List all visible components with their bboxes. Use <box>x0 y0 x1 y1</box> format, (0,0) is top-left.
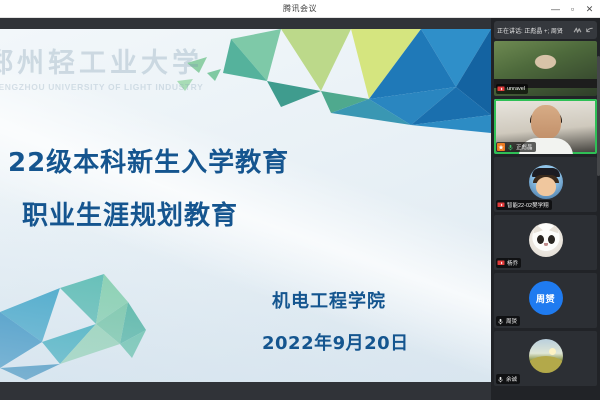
participant-name: 周赟 <box>506 317 517 325</box>
participant-tile[interactable]: 余诚 <box>494 331 597 386</box>
title-bar: 腾讯会议 — ▫ ✕ <box>0 0 600 18</box>
minimize-button[interactable]: — <box>547 0 564 18</box>
mic-muted-icon <box>497 376 504 383</box>
participant-name-tag: 余诚 <box>496 374 520 384</box>
avatar-cat-ear-left <box>531 223 543 233</box>
lowpoly-graphic-top-right <box>171 29 491 149</box>
close-button[interactable]: ✕ <box>581 0 598 18</box>
participant-name-tag: 正彪晶 <box>496 142 536 152</box>
shared-screen-stage[interactable]: 郑州轻工业大学 ZHENGZHOU UNIVERSITY OF LIGHT IN… <box>0 18 491 400</box>
share-screen-icon <box>497 85 505 93</box>
lowpoly-graphic-bottom-left <box>0 272 215 382</box>
slide-date: 2022年9月20日 <box>262 329 409 355</box>
share-screen-icon <box>497 201 505 209</box>
avatar-cat-ear-right <box>549 223 561 233</box>
watermark-english: ZHENGZHOU UNIVERSITY OF LIGHT INDUSTRY <box>0 82 176 92</box>
participant-name-tag: 智能22-02樊学翔 <box>496 200 552 210</box>
avatar-cat-eye-right <box>548 235 555 244</box>
avatar <box>529 339 563 373</box>
avatar-sun-shape <box>549 348 556 355</box>
avatar: 周赟 <box>529 281 563 315</box>
participants-sidebar[interactable]: 正在讲话: 正彪晶 +; 周贤 unravel <box>491 18 600 400</box>
maximize-button[interactable]: ▫ <box>564 0 581 18</box>
avatar-hill-shape <box>529 356 563 373</box>
participant-tile[interactable]: 智能22-02樊学翔 <box>494 157 597 212</box>
mic-muted-icon <box>497 318 504 325</box>
presentation-slide: 郑州轻工业大学 ZHENGZHOU UNIVERSITY OF LIGHT IN… <box>0 29 491 382</box>
host-icon <box>497 143 505 151</box>
participant-tile[interactable]: unravel <box>494 41 597 96</box>
avatar-cat-nose <box>544 243 548 246</box>
wave-icon[interactable] <box>573 26 582 35</box>
tencent-meeting-window: 腾讯会议 — ▫ ✕ <box>0 0 600 400</box>
participant-name: 余诚 <box>506 375 517 383</box>
video-face-shape <box>531 105 561 139</box>
active-speaker-label: 正在讲话: 正彪晶 +; 周贤 <box>497 26 573 35</box>
stage-top-bar <box>0 18 491 29</box>
slide-title-line-1: 22级本科新生入学教育 <box>8 142 289 179</box>
slide-title-line-2: 职业生涯规划教育 <box>22 195 238 232</box>
slide-organization: 机电工程学院 <box>272 287 386 313</box>
window-controls: — ▫ ✕ <box>547 0 598 18</box>
participant-tile[interactable]: 杨乔 <box>494 215 597 270</box>
university-watermark: 郑州轻工业大学 ZHENGZHOU UNIVERSITY OF LIGHT IN… <box>0 41 176 92</box>
participant-name-tag: unravel <box>496 84 528 94</box>
active-speaker-bar: 正在讲话: 正彪晶 +; 周贤 <box>494 21 597 39</box>
window-title: 腾讯会议 <box>283 3 317 14</box>
participant-tile[interactable]: 周赟 周赟 <box>494 273 597 328</box>
participant-tile-active-speaker[interactable]: 正彪晶 <box>494 99 597 154</box>
share-screen-icon <box>497 259 505 267</box>
avatar <box>529 223 563 257</box>
watermark-chinese: 郑州轻工业大学 <box>0 41 176 80</box>
participant-name: 正彪晶 <box>516 143 533 151</box>
stage-bottom-bar <box>0 382 491 400</box>
avatar-cat-eye-left <box>537 235 544 244</box>
mic-on-icon <box>507 144 514 151</box>
participant-name: 智能22-02樊学翔 <box>507 201 549 209</box>
back-arrow-icon[interactable] <box>585 26 594 35</box>
participant-name-tag: 周赟 <box>496 316 520 326</box>
speaker-bar-icons <box>573 26 594 35</box>
avatar <box>529 165 563 199</box>
participant-name: unravel <box>507 86 525 92</box>
participant-name: 杨乔 <box>507 259 518 267</box>
participant-name-tag: 杨乔 <box>496 258 521 268</box>
avatar-face-shape <box>536 177 556 196</box>
